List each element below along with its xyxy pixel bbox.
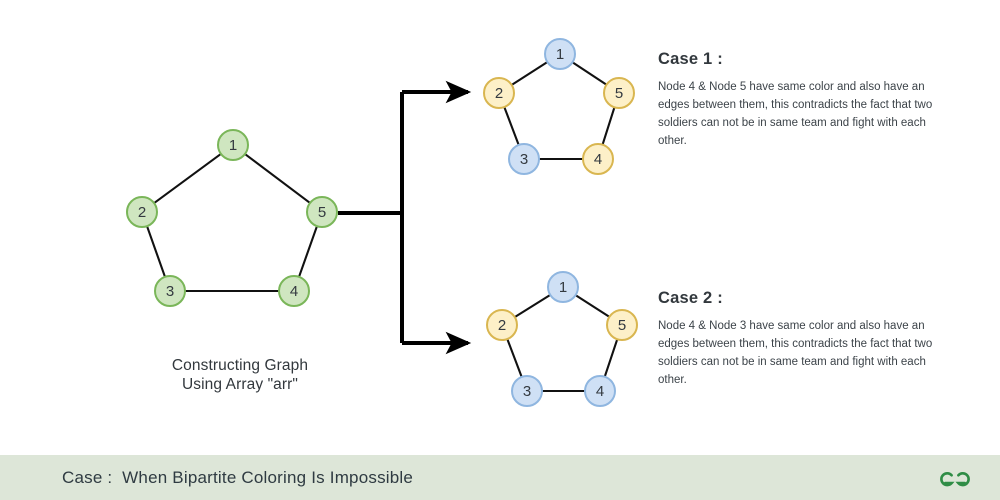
source-graph-caption: Constructing Graph Using Array "arr": [140, 356, 340, 394]
case-2-node-1: 1: [548, 272, 578, 302]
case-2-edge: [514, 294, 551, 317]
case-2-node-label: 4: [596, 383, 604, 400]
source-edge: [244, 153, 311, 203]
case-2-node-5: 5: [607, 310, 637, 340]
case-2-node-4: 4: [585, 376, 615, 406]
case-2-edge: [507, 338, 522, 378]
source-node-5: 5: [307, 197, 337, 227]
source-edge: [299, 225, 318, 278]
case-1-node-3: 3: [509, 144, 539, 174]
source-node-1: 1: [218, 130, 248, 160]
case-2-node-label: 3: [523, 383, 531, 400]
case-2-description: Node 4 & Node 3 have same color and also…: [658, 317, 950, 389]
case-1-edge: [504, 106, 519, 146]
case-2-node-label: 2: [498, 317, 506, 334]
footer-banner: Case : When Bipartite Coloring Is Imposs…: [0, 455, 1000, 500]
case-2-edge: [604, 338, 617, 377]
source-node-2: 2: [127, 197, 157, 227]
source-node-4: 4: [279, 276, 309, 306]
source-graph: 12345: [127, 130, 337, 306]
case-1-node-2: 2: [484, 78, 514, 108]
case-2-node-3: 3: [512, 376, 542, 406]
source-node-label: 4: [290, 283, 298, 300]
source-node-3: 3: [155, 276, 185, 306]
case-2-node-label: 1: [559, 279, 567, 296]
case-1-node-5: 5: [604, 78, 634, 108]
case-1-node-label: 5: [615, 85, 623, 102]
case-1-node-label: 1: [556, 46, 564, 63]
branch-connector-arrows: [338, 92, 468, 343]
source-edge: [147, 225, 166, 278]
case-2-node-2: 2: [487, 310, 517, 340]
case-1-edge: [602, 106, 615, 145]
case-2-graph: 12345: [487, 272, 637, 406]
case-1-description: Node 4 & Node 5 have same color and also…: [658, 78, 950, 150]
case-1-title: Case 1 :: [658, 50, 958, 69]
source-node-label: 2: [138, 204, 146, 221]
case-2-edge: [575, 295, 610, 318]
case-2-node-label: 5: [618, 317, 626, 334]
case-1-text-block: Case 1 : Node 4 & Node 5 have same color…: [658, 50, 958, 150]
diagram-canvas: 12345 12345 12345 Constructing Graph Usi…: [0, 0, 1000, 500]
case-1-node-label: 4: [594, 151, 602, 168]
case-1-edge: [511, 62, 548, 86]
case-1-node-1: 1: [545, 39, 575, 69]
case-1-node-4: 4: [583, 144, 613, 174]
geeksforgeeks-logo: [938, 465, 972, 491]
source-node-label: 1: [229, 137, 237, 154]
case-1-node-label: 2: [495, 85, 503, 102]
source-edge: [153, 153, 221, 203]
case-1-edge: [572, 62, 608, 86]
case-2-title: Case 2 :: [658, 289, 958, 308]
case-1-node-label: 3: [520, 151, 528, 168]
caption-line-1: Constructing Graph: [140, 356, 340, 375]
case-1-graph: 12345: [484, 39, 634, 174]
footer-caption: Case : When Bipartite Coloring Is Imposs…: [62, 468, 413, 488]
case-2-text-block: Case 2 : Node 4 & Node 3 have same color…: [658, 289, 958, 389]
source-node-label: 3: [166, 283, 174, 300]
caption-line-2: Using Array "arr": [140, 375, 340, 394]
source-node-label: 5: [318, 204, 326, 221]
